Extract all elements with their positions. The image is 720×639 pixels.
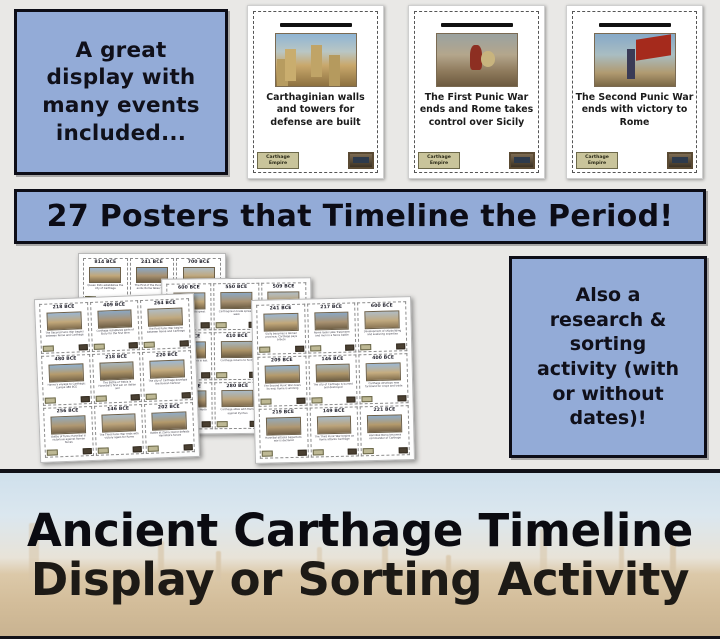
page-title: Ancient Carthage Timeline [27, 508, 693, 553]
mini-card-image [89, 267, 121, 284]
mini-card-text: The city of Carthage develops the Roman … [148, 378, 188, 386]
mini-carthage-empire-badge [312, 449, 323, 455]
mini-carthage-empire-badge [144, 342, 155, 348]
mini-card-footer [262, 450, 307, 457]
mini-carthage-empire-badge [47, 449, 58, 455]
mini-carthage-empire-badge [260, 399, 271, 405]
badge-line-2: Empire [588, 161, 606, 166]
poster-thumbnail-icon [348, 152, 374, 169]
timeline-mini-card[interactable]: 600 BCEDevelopment of shipbuilding and s… [357, 301, 407, 352]
mini-card-text: Hannibal attacks Saguntum; war is declar… [264, 435, 304, 442]
mini-card-footer [144, 340, 189, 348]
mini-card-footer [148, 444, 193, 452]
mini-thumbnail-icon [201, 372, 210, 378]
timeline-mini-card[interactable]: 202 BCEBattle at Zama; Rome defeats Hann… [144, 402, 195, 454]
timeline-card-sheet-left: 218 BCEThe Second Punic War begins betwe… [34, 293, 200, 463]
mini-card-text: Carthaginian trade spreads west [218, 309, 255, 316]
mini-card-footer [360, 343, 405, 350]
mini-card-footer [312, 448, 357, 455]
mini-card-text: Hanno's voyage to Carthage; Europe 480 B… [46, 382, 86, 390]
mini-card-text: The Third Punic War begins as Rome attac… [314, 434, 354, 441]
mini-card-date: 220 BCE [156, 354, 178, 359]
mini-carthage-empire-badge [216, 372, 227, 378]
mini-card-text: Battle of Tunis; Hannibal is victorious … [48, 434, 88, 445]
mini-card-text: Battle at Zama; Rome defeats Hannibal's … [150, 430, 190, 438]
mini-card-text: The city of Carthage is burned and destr… [313, 382, 353, 389]
mini-card-footer [43, 344, 88, 352]
mini-card-image [317, 415, 352, 434]
mini-card-date: 218 BCE [53, 306, 75, 311]
title-banner: Ancient Carthage Timeline Display or Sor… [0, 469, 720, 639]
poster-card: Carthaginian walls and towers for defens… [247, 5, 384, 179]
mini-thumbnail-icon [396, 343, 405, 349]
mini-card-image [365, 310, 400, 329]
mini-card-date: 410 BCE [226, 335, 248, 340]
poster-caption: Carthaginian walls and towers for defens… [257, 92, 375, 129]
mini-carthage-empire-badge [262, 450, 273, 456]
mini-card-date: 264 BCE [154, 302, 176, 307]
mini-carthage-empire-badge [362, 396, 373, 402]
mini-card-footer [216, 371, 257, 377]
timeline-mini-card[interactable]: 400 BCECarthage develops new farmland fo… [359, 353, 409, 404]
timeline-mini-card[interactable]: 264 BCEThe First Punic War begins betwee… [140, 298, 191, 350]
card-sheets-row: 814 BCEQueen Dido establishes the city o… [0, 250, 720, 465]
mini-thumbnail-icon [296, 398, 305, 404]
mini-card-image [221, 390, 254, 407]
mini-card-date: 280 BCE [226, 385, 248, 390]
mini-card-image [150, 359, 185, 378]
mini-card-image [97, 309, 132, 328]
promo-line-1: A great [42, 37, 199, 65]
mini-card-image [367, 414, 402, 433]
poster-date-rule [599, 23, 671, 27]
top-promo-row: A great display with many events include… [0, 0, 720, 185]
poster-count-banner: 27 Posters that Timeline the Period! [14, 189, 706, 244]
mini-card-date: 221 BCE [373, 408, 395, 413]
mini-carthage-empire-badge [93, 343, 104, 349]
page-subtitle: Display or Sorting Activity [31, 557, 689, 602]
mini-card-image [101, 413, 136, 432]
mini-card-date: 509 BCE [273, 285, 295, 290]
mini-card-footer [45, 396, 90, 404]
mini-carthage-empire-badge [148, 445, 159, 451]
mini-carthage-empire-badge [45, 397, 56, 403]
mini-thumbnail-icon [133, 446, 142, 452]
mini-card-image [366, 362, 401, 381]
carthage-empire-badge: Carthage Empire [257, 152, 299, 169]
mini-card-image [48, 363, 83, 382]
mini-card-footer [363, 447, 408, 454]
timeline-mini-card[interactable]: 220 BCEThe city of Carthage develops the… [142, 350, 193, 402]
timeline-mini-card[interactable]: 241 BCESicily becomes a Roman province; … [256, 304, 306, 355]
timeline-mini-card[interactable]: 218 BCEThe Battle of Trebia is Hannibal'… [92, 352, 143, 404]
mini-carthage-empire-badge [360, 344, 371, 350]
mini-card-date: 146 BCE [107, 408, 129, 413]
mini-card-date: 219 BCE [272, 411, 294, 416]
mini-card-image [314, 311, 349, 330]
mini-thumbnail-icon [129, 342, 138, 348]
mini-card-footer [260, 398, 305, 405]
mini-card-text: Sicily becomes a Roman province; Carthag… [261, 331, 301, 342]
info-line-1: Also a [537, 283, 679, 308]
mini-carthage-empire-badge [43, 345, 54, 351]
info-line-3: sorting [537, 332, 679, 357]
mini-card-date: 149 BCE [323, 410, 345, 415]
carthage-empire-badge: Carthage Empire [576, 152, 618, 169]
poster-card: The First Punic War ends and Rome takes … [408, 5, 545, 179]
timeline-mini-card[interactable]: 146 BCEThe city of Carthage is burned an… [308, 354, 358, 405]
mini-card-date: 241 BCE [141, 261, 163, 266]
mini-card-image [148, 307, 183, 326]
mini-card-image [265, 364, 300, 383]
mini-card-date: 600 BCE [371, 305, 393, 310]
timeline-mini-card[interactable]: 218 BCEThe Second Punic War begins betwe… [39, 302, 90, 354]
timeline-mini-card[interactable]: 221 BCEHannibal Barca becomes commander … [360, 405, 410, 456]
mini-card-text: Rome loses Lake Trasimene and men in a f… [312, 330, 352, 337]
mini-card-text: Carthage returns to Sicily [218, 359, 255, 363]
info-line-6: dates)! [537, 406, 679, 431]
promo-line-4: included... [42, 120, 199, 148]
promo-callout-box: A great display with many events include… [14, 9, 228, 175]
mini-card-text: The Second Punic War begins between Rome… [44, 330, 84, 338]
title-text-wrap: Ancient Carthage Timeline Display or Sor… [0, 473, 720, 636]
mini-card-text: The First Punic War begins between Rome … [146, 326, 186, 334]
mini-card-text: Carthage develops new farmland for crops… [364, 381, 404, 388]
mini-card-text: Hannibal Barca becomes commander of Cart… [365, 433, 405, 440]
mini-card-date: 409 BCE [103, 304, 125, 309]
carthage-empire-badge: Carthage Empire [418, 152, 460, 169]
mini-card-date: 202 BCE [158, 406, 180, 411]
mini-thumbnail-icon [78, 344, 87, 350]
mini-card-image [99, 361, 134, 380]
mini-thumbnail-icon [345, 344, 354, 350]
timeline-mini-card[interactable]: 146 BCEThe Third Punic War ends with vic… [94, 404, 145, 456]
poster-footer: Carthage Empire [418, 152, 535, 169]
mini-card-date: 209 BCE [271, 359, 293, 364]
mini-card-footer [310, 344, 355, 351]
mini-thumbnail-icon [348, 448, 357, 454]
poster-caption: The First Punic War ends and Rome takes … [418, 92, 536, 129]
poster-caption: The Second Punic War ends with victory t… [576, 92, 694, 129]
mini-card-footer [95, 394, 140, 402]
mini-thumbnail-icon [397, 395, 406, 401]
poster-date-rule [441, 23, 513, 27]
mini-carthage-empire-badge [97, 447, 108, 453]
roman-soldier-victory-banner-painting [594, 33, 676, 87]
mini-thumbnail-icon [297, 450, 306, 456]
mini-card-date: 480 BCE [55, 358, 77, 363]
mini-carthage-empire-badge [95, 395, 106, 401]
mini-carthage-empire-badge [146, 393, 157, 399]
poster-thumbnail-icon [667, 152, 693, 169]
mini-card-text: Carthage recaptures parts of Sicily for … [95, 328, 135, 336]
poster-dashed-frame: Carthaginian walls and towers for defens… [253, 11, 378, 173]
mini-card-date: 241 BCE [270, 307, 292, 312]
promo-line-3: many events [42, 92, 199, 120]
poster-thumbnail-icon [509, 152, 535, 169]
mini-card-footer [259, 346, 304, 353]
mini-card-image [266, 416, 301, 435]
mini-carthage-empire-badge [311, 397, 322, 403]
mini-card-image [315, 363, 350, 382]
mini-card-footer [146, 392, 191, 400]
mini-thumbnail-icon [131, 394, 140, 400]
mini-carthage-empire-badge [217, 421, 228, 427]
mini-card-image [263, 312, 298, 331]
mini-card-image [46, 311, 81, 330]
mini-card-text: Development of shipbuilding and seafarin… [362, 329, 402, 336]
mini-card-text: Queen Dido establishes the city of Carth… [87, 284, 124, 290]
timeline-mini-card[interactable]: 217 BCERome loses Lake Trasimene and men… [307, 302, 357, 353]
mini-card-text: The Second Punic War nears its end; Rome… [262, 383, 302, 390]
mini-card-date: 550 BCE [225, 286, 247, 291]
mini-card-footer [97, 446, 142, 454]
badge-line-2: Empire [430, 161, 448, 166]
mini-thumbnail-icon [180, 340, 189, 346]
mini-card-image [220, 291, 253, 308]
mini-carthage-empire-badge [363, 448, 374, 454]
mini-thumbnail-icon [182, 392, 191, 398]
mini-card-text: The Battle of Trebia is Hannibal's first… [97, 380, 137, 391]
poster-dashed-frame: The Second Punic War ends with victory t… [572, 11, 697, 173]
mini-card-date: 146 BCE [321, 358, 343, 363]
poster-dashed-frame: The First Punic War ends and Rome takes … [414, 11, 539, 173]
mini-card-footer [93, 342, 138, 350]
mini-card-image [152, 411, 187, 430]
timeline-card-sheet-right: 241 BCESicily becomes a Roman province; … [251, 296, 415, 464]
first-punic-war-battle-painting [436, 33, 518, 87]
mini-card-date: 256 BCE [57, 410, 79, 415]
badge-line-2: Empire [269, 161, 287, 166]
mini-card-date: 700 BCE [188, 261, 210, 266]
timeline-mini-card[interactable]: 209 BCEThe Second Punic War nears its en… [257, 356, 307, 407]
poster-footer: Carthage Empire [576, 152, 693, 169]
promo-line-2: display with [42, 64, 199, 92]
mini-thumbnail-icon [399, 447, 408, 453]
timeline-mini-card[interactable]: 219 BCEHannibal attacks Saguntum; war is… [259, 408, 309, 459]
mini-thumbnail-icon [184, 444, 193, 450]
mini-card-date: 814 BCE [94, 261, 116, 266]
mini-carthage-empire-badge [310, 345, 321, 351]
poster-card: The Second Punic War ends with victory t… [566, 5, 703, 179]
info-line-4: activity (with [537, 357, 679, 382]
mini-carthage-empire-badge [259, 347, 270, 353]
mini-card-image [221, 341, 254, 358]
mini-card-footer [362, 395, 407, 402]
mini-card-footer [47, 448, 92, 456]
mini-card-footer [217, 421, 258, 427]
poster-footer: Carthage Empire [257, 152, 374, 169]
mini-thumbnail-icon [80, 396, 89, 402]
research-activity-box: Also a research & sorting activity (with… [509, 256, 707, 458]
mini-thumbnail-icon [82, 448, 91, 454]
info-line-5: or without [537, 382, 679, 407]
poster-date-rule [280, 23, 352, 27]
mini-thumbnail-icon [347, 396, 356, 402]
carthaginian-walls-illustration [275, 33, 357, 87]
mini-card-date: 218 BCE [105, 356, 127, 361]
mini-card-date: 600 BCE [178, 286, 200, 291]
timeline-mini-card[interactable]: 256 BCEBattle of Tunis; Hannibal is vict… [43, 406, 94, 458]
info-line-2: research & [537, 308, 679, 333]
mini-card-date: 217 BCE [320, 306, 342, 311]
promo-callout-text: A great display with many events include… [36, 37, 205, 148]
mini-card-date: 400 BCE [372, 357, 394, 362]
research-activity-text: Also a research & sorting activity (with… [532, 283, 684, 431]
mini-thumbnail-icon [202, 421, 211, 427]
mini-card-text: The Third Punic War ends with victory ag… [99, 432, 139, 440]
mini-card-footer [311, 396, 356, 403]
mini-card-image [50, 415, 85, 434]
timeline-mini-card[interactable]: 409 BCECarthage recaptures parts of Sici… [90, 300, 141, 352]
timeline-mini-card[interactable]: 149 BCEThe Third Punic War begins as Rom… [309, 406, 359, 457]
mini-thumbnail-icon [201, 323, 210, 329]
mini-card-text: Carthage allies with Rome against Pyrrhu… [219, 408, 256, 415]
mini-carthage-empire-badge [216, 322, 227, 328]
timeline-mini-card[interactable]: 480 BCEHanno's voyage to Carthage; Europ… [41, 354, 92, 406]
mini-thumbnail-icon [295, 346, 304, 352]
poster-count-banner-text: 27 Posters that Timeline the Period! [47, 199, 674, 234]
